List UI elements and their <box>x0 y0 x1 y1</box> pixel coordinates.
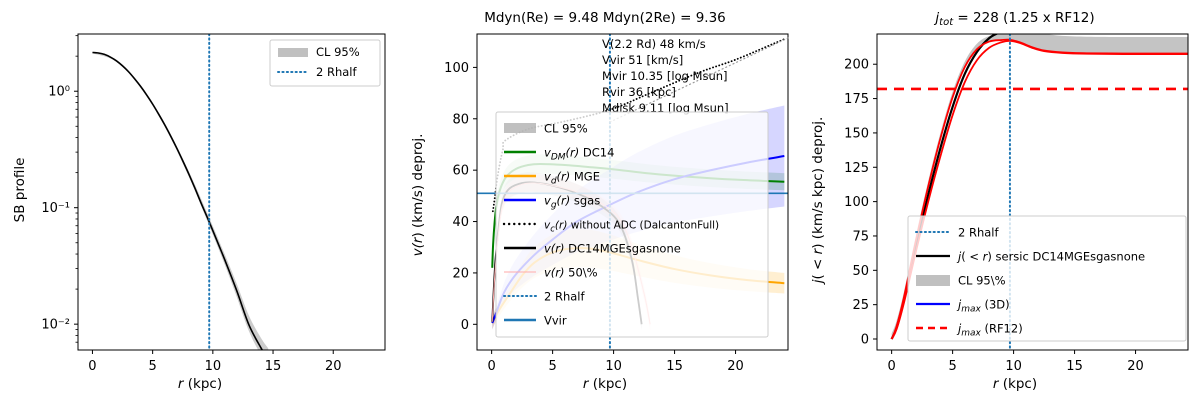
mid-y-axis-label: v(r) (km/s) deproj. <box>410 134 426 257</box>
sb-profile-curve <box>92 53 268 360</box>
x-tick-label: 10 <box>605 359 622 374</box>
y-tick-label: 80 <box>452 112 469 127</box>
y-tick-label: 50 <box>852 264 869 279</box>
right-x-axis-label: r (kpc) <box>993 376 1037 392</box>
legend-label-5: v(r) DC14MGEsgasnone <box>544 242 681 256</box>
x-tick-label: 0 <box>88 359 96 374</box>
y-tick-label: 20 <box>452 266 469 281</box>
annotation-line-0: V(2.2 Rd) 48 km/s <box>602 37 706 51</box>
x-tick-label: 5 <box>948 359 956 374</box>
panel-velocity-profile: Mdyn(Re) = 9.48 Mdyn(2Re) = 9.36 0510152… <box>400 0 800 400</box>
y-tick-label: 25 <box>852 298 869 313</box>
x-tick-label: 20 <box>1127 359 1144 374</box>
panel-mid-svg: Mdyn(Re) = 9.48 Mdyn(2Re) = 9.36 0510152… <box>400 0 800 400</box>
legend-swatch-cl95 <box>278 48 308 57</box>
figure-canvas: 0510152010⁻²10⁻¹10⁰CL 95%2 Rhalf SB prof… <box>0 0 1200 400</box>
right-x-axis-label-rest: (kpc) <box>998 376 1037 392</box>
right-y-axis-label: j( < r) (km/s kpc) deproj. <box>810 117 826 286</box>
legend-label-2rhalf: 2 Rhalf <box>316 65 357 79</box>
panel-sb-profile: 0510152010⁻²10⁻¹10⁰CL 95%2 Rhalf SB prof… <box>0 0 400 400</box>
x-tick-label: 0 <box>487 359 495 374</box>
y-tick-label: 40 <box>452 215 469 230</box>
panel-angular-momentum: jtot = 228 (1.25 x RF12) 051015200255075… <box>800 0 1200 400</box>
legend-label-cl95: CL 95% <box>316 45 360 59</box>
annotation-line-3: Rvir 36 [kpc] <box>602 85 676 99</box>
y-tick-label: 10⁻¹ <box>41 201 70 216</box>
y-tick-label: 100 <box>844 195 869 210</box>
mid-panel-title: Mdyn(Re) = 9.48 Mdyn(2Re) = 9.36 <box>484 10 726 26</box>
legend-swatch-0 <box>504 123 536 133</box>
y-tick-label: 125 <box>844 161 869 176</box>
left-x-axis-label: r (kpc) <box>178 376 222 392</box>
legend-label-0: CL 95% <box>544 122 588 136</box>
plot-area <box>92 34 268 368</box>
y-tick-label: 0 <box>461 318 469 333</box>
x-tick-label: 5 <box>548 359 556 374</box>
y-tick-label: 0 <box>861 333 869 348</box>
annotation-line-1: Vvir 51 [km/s] <box>602 53 683 67</box>
y-tick-label: 175 <box>844 92 869 107</box>
panel-left-svg: 0510152010⁻²10⁻¹10⁰CL 95%2 Rhalf SB prof… <box>0 0 400 400</box>
legend-label-0: 2 Rhalf <box>958 226 999 240</box>
legend-label-1: j( < r) sersic DC14MGEsgasnone <box>956 250 1145 264</box>
y-tick-label: 10⁰ <box>48 85 70 100</box>
x-tick-label: 15 <box>1066 359 1083 374</box>
x-tick-label: 10 <box>1005 359 1022 374</box>
x-tick-label: 15 <box>666 359 683 374</box>
x-tick-label: 15 <box>265 359 282 374</box>
legend-label-2: CL 95\% <box>958 274 1006 288</box>
y-tick-label: 200 <box>844 58 869 73</box>
y-tick-label: 60 <box>452 164 469 179</box>
left-legend: CL 95%2 Rhalf <box>270 40 380 86</box>
x-tick-label: 0 <box>887 359 895 374</box>
right-panel-title: jtot = 228 (1.25 x RF12) <box>933 10 1094 28</box>
x-tick-label: 5 <box>149 359 157 374</box>
cl95-band <box>92 52 268 368</box>
y-tick-label: 150 <box>844 126 869 141</box>
x-tick-label: 20 <box>325 359 342 374</box>
right-legend: 2 Rhalfj( < r) sersic DC14MGEsgasnoneCL … <box>908 216 1186 341</box>
mid-x-axis-label: r (kpc) <box>583 376 627 392</box>
legend-label-7: 2 Rhalf <box>544 290 585 304</box>
x-tick-label: 20 <box>727 359 744 374</box>
mid-x-axis-label-rest: (kpc) <box>588 376 627 392</box>
x-tick-label: 10 <box>205 359 222 374</box>
y-tick-label: 75 <box>852 229 869 244</box>
legend-label-8: Vvir <box>544 314 567 328</box>
annotation-line-2: Mvir 10.35 [log Msun] <box>602 69 728 83</box>
legend-label-6: v(r) 50\% <box>544 266 598 280</box>
left-y-axis-label: SB profile <box>12 158 28 223</box>
y-tick-label: 10⁻² <box>41 318 70 333</box>
mid-legend: CL 95%vDM(r) DC14vd(r) MGEvg(r) sgasvc(r… <box>496 112 768 337</box>
left-x-axis-label-rest: (kpc) <box>183 376 222 392</box>
y-tick-label: 100 <box>444 61 469 76</box>
panel-right-svg: jtot = 228 (1.25 x RF12) 051015200255075… <box>800 0 1200 400</box>
legend-swatch-2 <box>916 275 950 286</box>
